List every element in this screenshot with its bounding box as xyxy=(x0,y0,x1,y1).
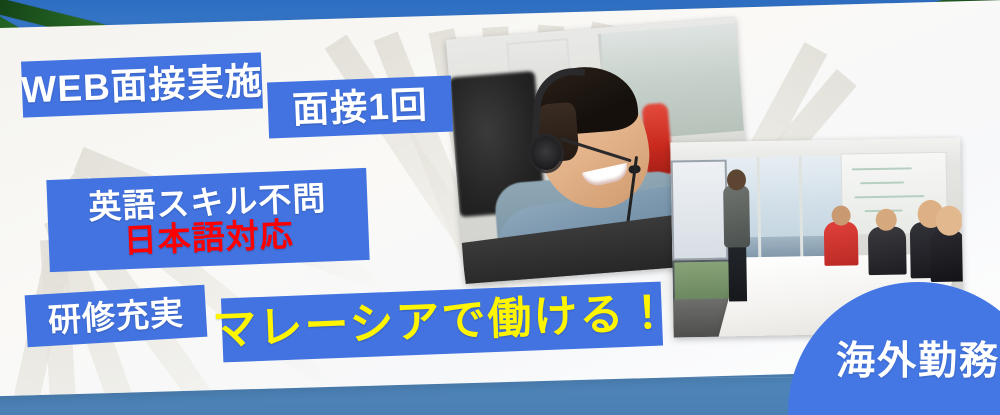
photo-meeting-presenter-body xyxy=(723,185,750,247)
photo-meeting-attendee-dark xyxy=(868,226,907,275)
photo-meeting-attendee-red xyxy=(824,221,859,266)
label-japanese-support-text: 日本語対応 xyxy=(123,218,294,258)
label-web-interview: WEB面接実施 xyxy=(21,52,263,117)
label-english-skill-block: 英語スキル不問 日本語対応 xyxy=(46,168,369,272)
photo-meeting-display xyxy=(671,160,729,261)
photo-meeting-attendee-nearest xyxy=(930,229,964,282)
label-training: 研修充実 xyxy=(25,285,208,348)
recruitment-banner: WEB面接実施 面接1回 英語スキル不問 日本語対応 研修充実 マレーシアで働け… xyxy=(0,0,1000,415)
label-interview-count: 面接1回 xyxy=(267,75,453,138)
photo-meeting-presenter-legs xyxy=(728,245,747,301)
